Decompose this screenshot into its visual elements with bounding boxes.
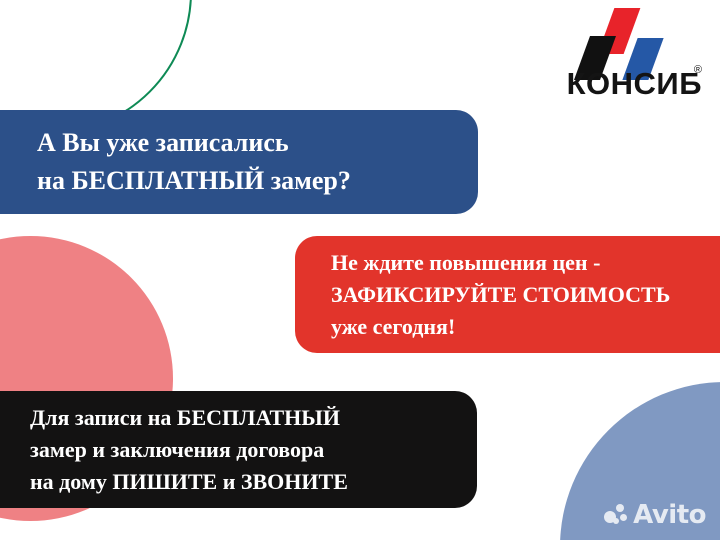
banner-red-line-1: Не ждите повышения цен - [331, 247, 720, 279]
promo-poster: ® КОНСИБ А Вы уже записались на БЕСПЛАТН… [0, 0, 720, 540]
avito-wordmark: Avito [633, 502, 706, 528]
banner-blue-line-2: на БЕСПЛАТНЫЙ замер? [37, 162, 478, 200]
logo-emblem: ® [520, 6, 702, 68]
banner-black-line-2: замер и заключения договора [30, 434, 477, 466]
banner-black-line-3: на дому ПИШИТЕ и ЗВОНИТЕ [30, 466, 477, 498]
banner-red-line-3: уже сегодня! [331, 311, 720, 343]
banner-red-line-2: ЗАФИКСИРУЙТЕ СТОИМОСТЬ [331, 279, 720, 311]
banner-red-urgency: Не ждите повышения цен - ЗАФИКСИРУЙТЕ СТ… [295, 236, 720, 353]
banner-black-line-1: Для записи на БЕСПЛАТНЫЙ [30, 402, 477, 434]
banner-black-cta: Для записи на БЕСПЛАТНЫЙ замер и заключе… [0, 391, 477, 508]
avito-dots-icon [604, 503, 628, 527]
company-logo: ® КОНСИБ [520, 6, 702, 108]
logo-wordmark: КОНСИБ [520, 68, 702, 99]
avito-watermark: Avito [604, 502, 706, 528]
banner-blue-line-1: А Вы уже записались [37, 124, 478, 162]
banner-blue-headline: А Вы уже записались на БЕСПЛАТНЫЙ замер? [0, 110, 478, 214]
